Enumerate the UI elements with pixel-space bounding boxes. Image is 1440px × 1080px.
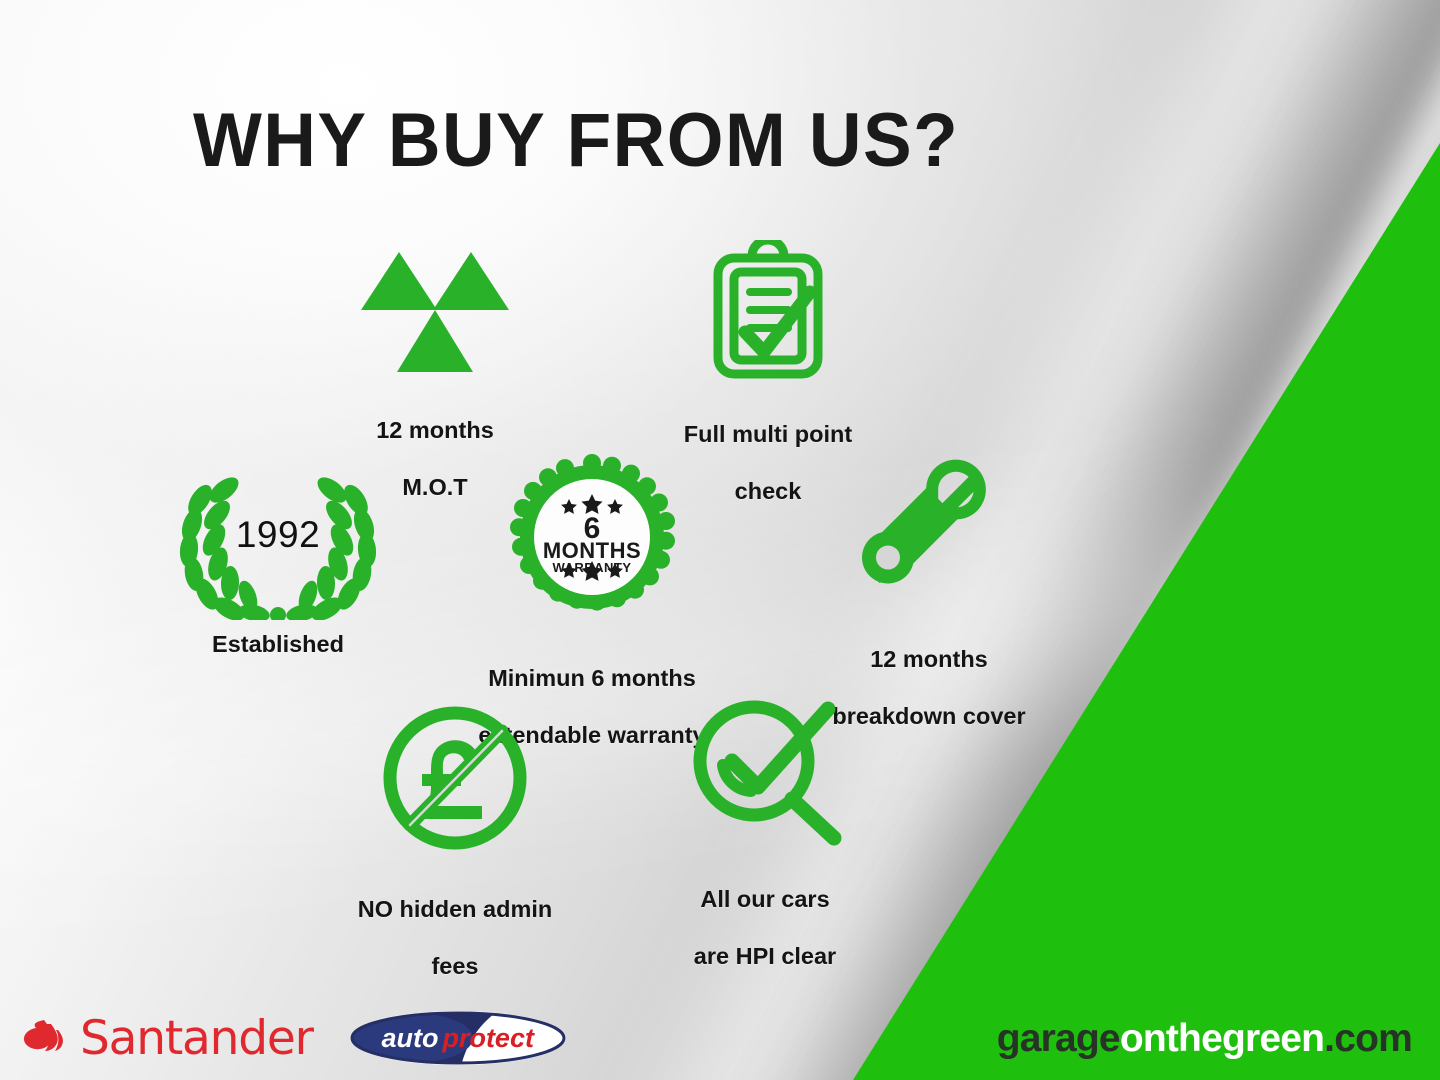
url-part-onthegreen: onthegreen <box>1120 1017 1324 1060</box>
caption-line-1: 12 months <box>870 646 988 672</box>
feature-hpi-clear-caption: All our cars are HPI clear <box>694 857 836 970</box>
caption-line-1: All our cars <box>700 886 829 912</box>
santander-wordmark: Santander <box>80 1015 313 1062</box>
feature-no-admin-fees: NO hidden admin fees <box>325 703 585 980</box>
warranty-badge-icon: 6 MONTHS WARRANTY <box>507 452 677 622</box>
mot-triangles-icon <box>355 248 515 376</box>
santander-logo: Santander <box>18 1012 313 1064</box>
partner-logos: Santander auto protect <box>18 1010 567 1066</box>
page-title: WHY BUY FROM US? <box>0 103 1382 179</box>
feature-no-admin-fees-caption: NO hidden admin fees <box>358 867 553 980</box>
poster-canvas: WHY BUY FROM US? 12 months M.O.T <box>0 0 1440 1080</box>
caption-line-1: 12 months <box>376 417 494 443</box>
website-url[interactable]: garageonthegreen.com <box>997 1019 1412 1058</box>
autoprotect-protect-text: protect <box>442 1025 534 1052</box>
wrench-screwdriver-icon <box>849 445 1009 605</box>
caption-line-1: Minimun 6 months <box>488 665 696 691</box>
clipboard-check-icon <box>704 240 832 382</box>
autoprotect-logo: auto protect <box>349 1010 567 1066</box>
badge-warranty-text: WARRANTY <box>552 560 631 575</box>
autoprotect-auto-text: auto <box>381 1025 438 1052</box>
no-pound-fee-icon <box>380 703 530 853</box>
url-part-com: .com <box>1324 1017 1412 1060</box>
caption-line-2: fees <box>431 953 478 979</box>
magnifier-check-icon <box>688 695 843 847</box>
established-year: 1992 <box>172 514 384 556</box>
url-part-garage: garage <box>997 1017 1120 1060</box>
feature-established-caption: Established <box>212 630 344 658</box>
feature-established: 1992 Established <box>158 470 398 658</box>
santander-flame-icon <box>18 1012 70 1064</box>
laurel-wreath-icon: 1992 <box>172 470 384 620</box>
caption-line-1: Full multi point <box>684 421 852 447</box>
caption-line-2: check <box>735 478 802 504</box>
feature-breakdown-cover: 12 months breakdown cover <box>800 445 1058 730</box>
caption-line-1: NO hidden admin <box>358 896 553 922</box>
caption-line-2: are HPI clear <box>694 943 836 969</box>
feature-hpi-clear: All our cars are HPI clear <box>640 695 890 970</box>
